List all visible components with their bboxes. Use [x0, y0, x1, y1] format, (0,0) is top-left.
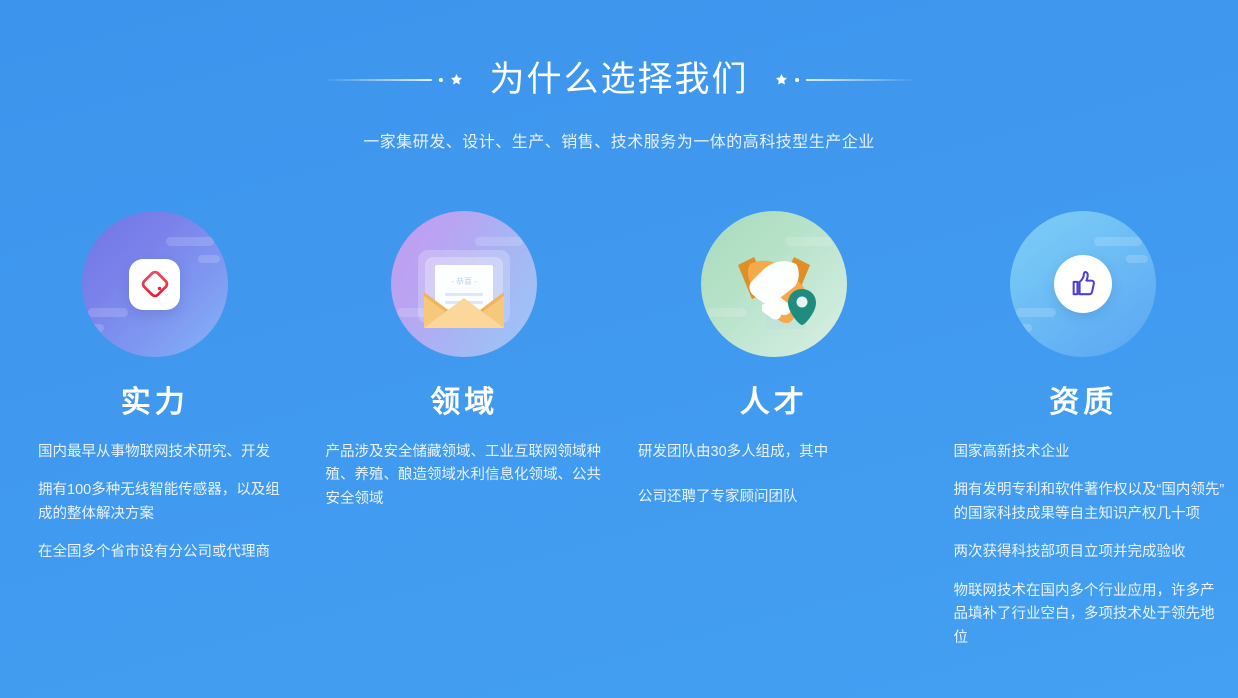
column-title-quality: 资质	[929, 386, 1238, 419]
column-paragraph: 拥有发明专利和软件著作权以及“国内领先”的国家科技成果等自主知识产权几十项	[954, 479, 1229, 526]
icon-wrap-quality	[929, 196, 1238, 372]
circle-streak	[84, 324, 104, 332]
decoration-left	[322, 65, 463, 95]
column-body-quality: 国家高新技术企业 拥有发明专利和软件著作权以及“国内领先”的国家科技成果等自主知…	[929, 441, 1238, 650]
circle-streak	[1016, 308, 1056, 317]
decoration-line-right	[806, 79, 916, 81]
feature-column-talent: 人才 研发团队由30多人组成，其中 公司还聘了专家顾问团队	[619, 196, 929, 665]
circle-streak	[1126, 255, 1148, 263]
column-title-talent: 人才	[619, 386, 929, 419]
column-paragraph: 在全国多个省市设有分公司或代理商	[38, 541, 294, 564]
column-body-field: 产品涉及安全储藏领域、工业互联网领域种殖、养殖、酿造领域水利信息化领域、公共安全…	[310, 441, 620, 511]
feature-column-quality: 资质 国家高新技术企业 拥有发明专利和软件著作权以及“国内领先”的国家科技成果等…	[929, 196, 1238, 665]
column-paragraph: 国内最早从事物联网技术研究、开发	[38, 441, 294, 464]
column-body-strength: 国内最早从事物联网技术研究、开发 拥有100多种无线智能传感器，以及组成的整体解…	[0, 441, 310, 565]
star-icon-left	[450, 73, 463, 86]
circle-streak	[166, 237, 214, 246]
feature-column-field: - 恭喜 - 领域 产品涉及安全储藏领域、工业互联网领域种殖、养殖、酿造领域水利…	[310, 196, 620, 665]
feature-column-strength: 实力 国内最早从事物联网技术研究、开发 拥有100多种无线智能传感器，以及组成的…	[0, 196, 310, 665]
column-paragraph: 公司还聘了专家顾问团队	[638, 486, 915, 509]
icon-circle-strength	[82, 211, 228, 357]
circle-streak	[88, 308, 128, 317]
column-paragraph: 研发团队由30多人组成，其中	[638, 441, 915, 464]
decoration-right	[775, 65, 916, 95]
column-body-talent: 研发团队由30多人组成，其中 公司还聘了专家顾问团队	[619, 441, 929, 510]
icon-circle-quality	[1010, 211, 1156, 357]
thumbs-up-icon	[1054, 255, 1112, 313]
svg-text:- 恭喜 -: - 恭喜 -	[451, 276, 477, 286]
column-paragraph: 两次获得科技部项目立项并完成验收	[954, 541, 1229, 564]
icon-circle-field: - 恭喜 -	[391, 211, 537, 357]
column-paragraph: 产品涉及安全储藏领域、工业互联网领域种殖、养殖、酿造领域水利信息化领域、公共安全…	[326, 441, 606, 511]
envelope-certificate-icon: - 恭喜 -	[408, 230, 520, 338]
decoration-line-left	[322, 79, 432, 81]
column-title-strength: 实力	[0, 386, 310, 419]
column-paragraph: 国家高新技术企业	[954, 441, 1229, 464]
star-icon-right	[775, 73, 788, 86]
icon-wrap-strength	[0, 196, 310, 372]
page-subtitle: 一家集研发、设计、生产、销售、技术服务为一体的高科技型生产企业	[0, 128, 1238, 152]
handshake-location-icon	[718, 231, 830, 337]
icon-wrap-talent	[619, 196, 929, 372]
page-title: 为什么选择我们	[463, 62, 774, 97]
circle-streak	[1094, 237, 1142, 246]
icon-circle-talent	[701, 211, 847, 357]
icon-wrap-field: - 恭喜 -	[310, 196, 620, 372]
feature-columns: 实力 国内最早从事物联网技术研究、开发 拥有100多种无线智能传感器，以及组成的…	[0, 196, 1238, 665]
title-row: 为什么选择我们	[0, 62, 1238, 97]
circle-streak	[1012, 324, 1032, 332]
decoration-dot-left	[439, 78, 443, 82]
column-title-field: 领域	[310, 386, 620, 419]
circle-streak	[198, 255, 220, 263]
decoration-dot-right	[795, 78, 799, 82]
column-paragraph: 物联网技术在国内多个行业应用，许多产品填补了行业空白，多项技术处于领先地位	[954, 580, 1229, 650]
diamond-badge-icon	[129, 259, 180, 310]
column-paragraph: 拥有100多种无线智能传感器，以及组成的整体解决方案	[38, 479, 294, 526]
